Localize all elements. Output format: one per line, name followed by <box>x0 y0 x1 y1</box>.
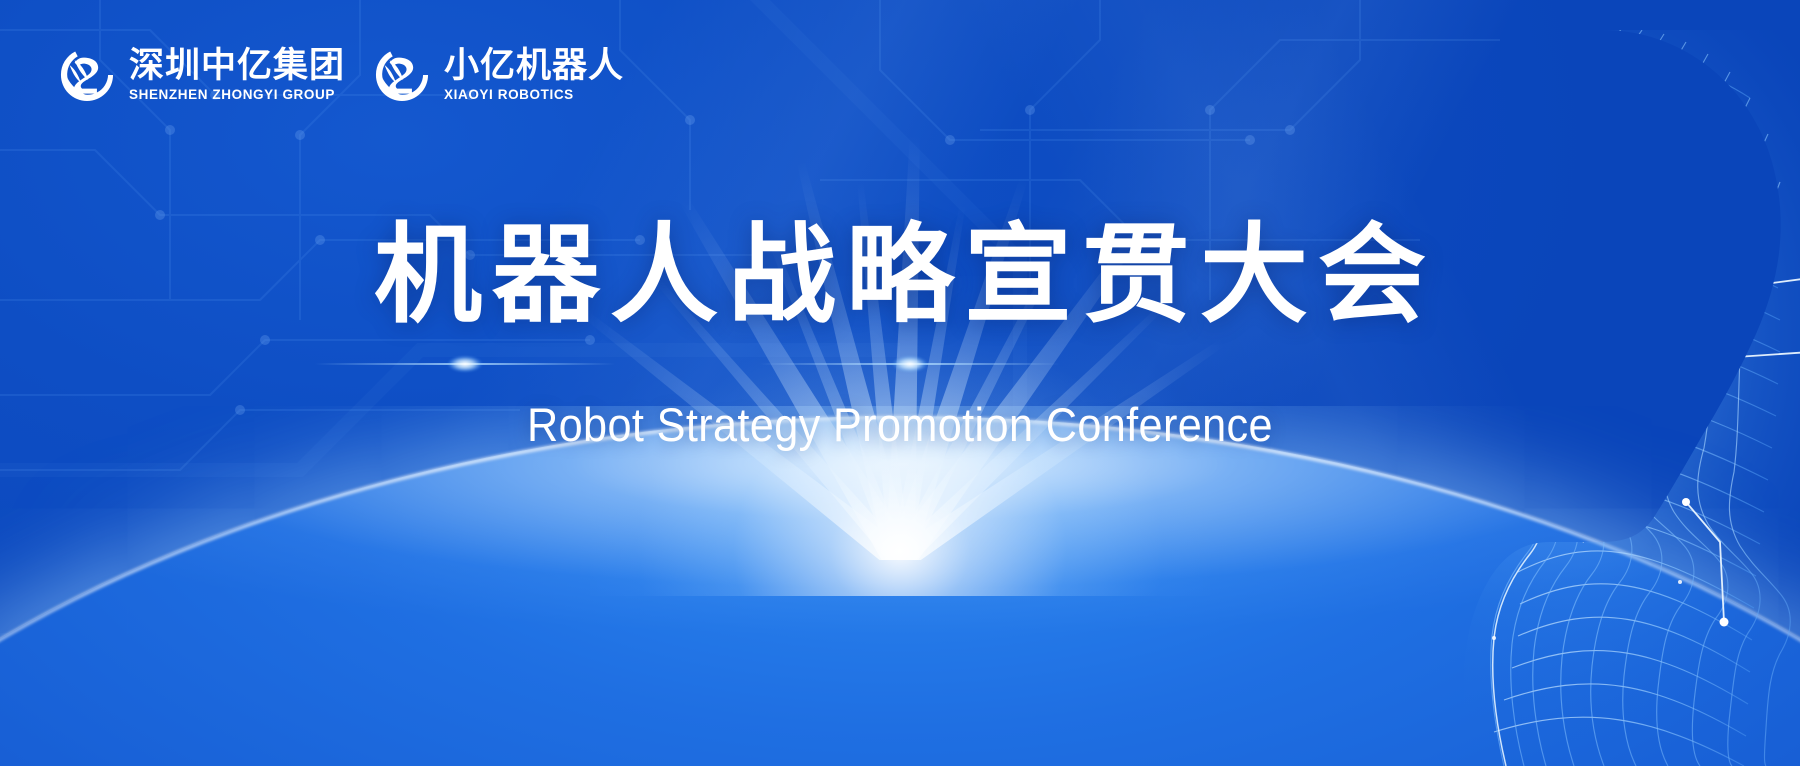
conference-title-cn: 机器人战略宣贯大会 <box>0 216 1800 337</box>
conference-banner: 深圳中亿集团 SHENZHEN ZHONGYI GROUP 小亿机器人 XIAO… <box>0 0 1800 766</box>
logo-xiaoyi[interactable]: 小亿机器人 XIAOYI ROBOTICS <box>371 44 624 106</box>
logo-zhongyi[interactable]: 深圳中亿集团 SHENZHEN ZHONGYI GROUP <box>56 44 345 106</box>
logo-zhongyi-cn: 深圳中亿集团 <box>129 47 345 84</box>
earth-horizon-graphic <box>0 406 1800 766</box>
title-divider <box>0 351 1800 377</box>
logo-zhongyi-text: 深圳中亿集团 SHENZHEN ZHONGYI GROUP <box>129 47 345 104</box>
earth-sphere <box>0 416 1800 766</box>
earth-atmosphere-rim <box>0 416 1800 766</box>
logo-xiaoyi-cn: 小亿机器人 <box>444 47 624 84</box>
logo-zhongyi-en: SHENZHEN ZHONGYI GROUP <box>129 87 345 104</box>
logo-xiaoyi-en: XIAOYI ROBOTICS <box>444 87 624 104</box>
logo-row: 深圳中亿集团 SHENZHEN ZHONGYI GROUP 小亿机器人 XIAO… <box>56 44 624 106</box>
conference-title-en: Robot Strategy Promotion Conference <box>72 397 1728 452</box>
logo-xiaoyi-text: 小亿机器人 XIAOYI ROBOTICS <box>444 47 624 104</box>
light-streak-left-icon <box>315 363 615 365</box>
earth-city-lights <box>0 416 1800 766</box>
light-streak-right-icon <box>760 363 1060 365</box>
title-block: 机器人战略宣贯大会 Robot Strategy Promotion Confe… <box>0 216 1800 452</box>
zhongyi-emblem-icon <box>56 44 118 106</box>
xiaoyi-emblem-icon <box>371 44 433 106</box>
